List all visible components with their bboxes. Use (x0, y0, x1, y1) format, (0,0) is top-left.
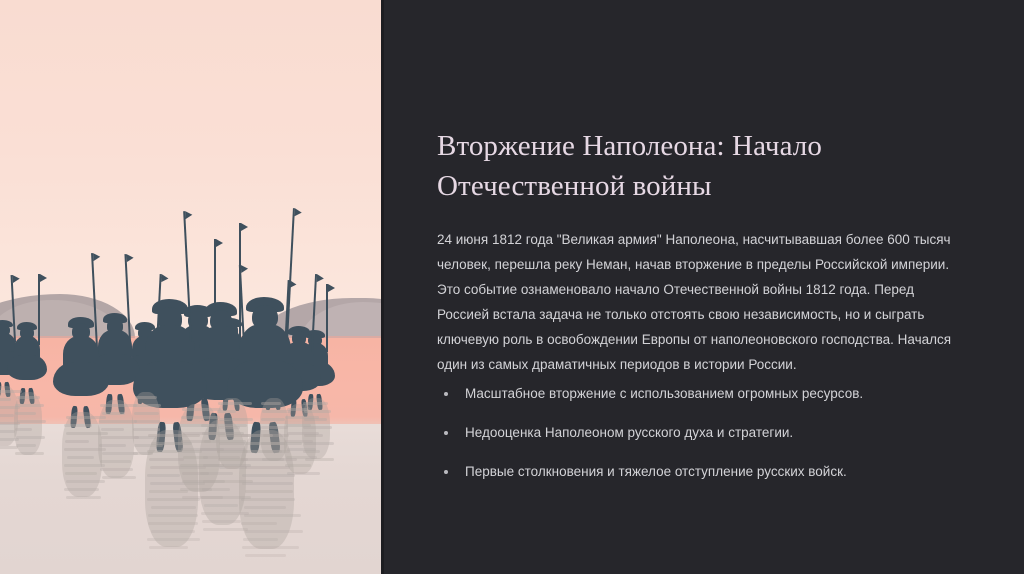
water-ripple (149, 490, 188, 493)
water-ripple (151, 442, 192, 445)
bullet-item: Первые столкновения и тяжелое отступлени… (437, 464, 977, 480)
pennant-flag-icon (241, 223, 248, 231)
water-ripple (287, 408, 308, 411)
water-ripple (261, 402, 281, 405)
water-ripple (102, 452, 138, 455)
water-ripple (245, 530, 303, 533)
bullet-item: Недооценка Наполеоном русского духа и ст… (437, 425, 977, 441)
bullet-text: Первые столкновения и тяжелое отступлени… (465, 464, 847, 479)
water-ripple (245, 466, 290, 469)
water-ripple (242, 546, 299, 549)
water-ripple (66, 496, 101, 499)
water-ripple (286, 424, 311, 427)
water-ripple (287, 432, 319, 435)
water-ripple (16, 436, 46, 439)
bullet-dot-icon (444, 431, 448, 435)
bullet-text: Недооценка Наполеоном русского духа и ст… (465, 425, 793, 440)
water-ripple (15, 404, 44, 407)
water-ripple (241, 522, 277, 525)
water-ripple (218, 402, 252, 405)
water-ripple (151, 506, 196, 509)
water-ripple (66, 432, 108, 435)
water-ripple (147, 450, 202, 453)
illustration-panel (0, 0, 383, 574)
water-ripple (15, 412, 36, 415)
water-ripple (67, 456, 94, 459)
water-ripple (134, 420, 160, 423)
water-ripple (241, 458, 297, 461)
soldier-coat (7, 355, 47, 380)
slide: Вторжение Наполеона: Начало Отечественно… (0, 0, 1024, 574)
water-ripple (134, 412, 159, 415)
pennant-flag-icon (93, 253, 100, 261)
water-ripple (287, 448, 316, 451)
soldier-coat (53, 362, 108, 396)
rifle-icon (38, 274, 40, 344)
water-ripple (203, 456, 241, 459)
water-ripple (245, 490, 293, 493)
water-ripple (147, 498, 200, 501)
water-ripple (64, 488, 100, 491)
pennant-flag-icon (317, 274, 324, 282)
water-ripple (100, 468, 133, 471)
water-ripple (65, 472, 97, 475)
water-ripple (149, 458, 184, 461)
water-ripple (245, 554, 286, 557)
pennant-flag-icon (216, 239, 223, 247)
water-ripple (243, 538, 278, 541)
water-ripple (147, 538, 200, 541)
water-ripple (241, 498, 295, 501)
water-ripple (64, 464, 105, 467)
body-paragraph: 24 июня 1812 года "Великая армия" Наполе… (437, 227, 965, 377)
water-ripple (15, 452, 44, 455)
water-ripple (148, 514, 198, 517)
pennant-flag-icon (241, 264, 248, 272)
water-ripple (102, 476, 136, 479)
water-ripple (149, 546, 188, 549)
water-ripple (244, 514, 301, 517)
water-ripple (64, 424, 93, 427)
water-ripple (147, 474, 180, 477)
water-ripple (242, 474, 295, 477)
water-ripple (181, 416, 220, 419)
rifle-icon (326, 284, 328, 352)
water-ripple (133, 428, 160, 431)
water-ripple (148, 434, 200, 437)
bullet-dot-icon (444, 470, 448, 474)
water-ripple (261, 418, 285, 421)
bullet-dot-icon (444, 392, 448, 396)
water-ripple (201, 424, 247, 427)
water-ripple (151, 530, 196, 533)
water-ripple (66, 416, 106, 419)
water-ripple (202, 488, 230, 491)
pennant-flag-icon (294, 208, 301, 216)
water-ripple (99, 444, 126, 447)
water-ripple (99, 420, 137, 423)
water-ripple (150, 466, 206, 469)
water-ripple (150, 482, 205, 485)
water-ripple (243, 450, 282, 453)
water-ripple (200, 448, 246, 451)
water-ripple (15, 428, 32, 431)
water-ripple (204, 440, 247, 443)
water-ripple (102, 412, 126, 415)
water-ripple (0, 390, 22, 393)
water-ripple (202, 520, 241, 523)
text-panel: Вторжение Наполеона: Начало Отечественно… (383, 0, 1024, 574)
sky-layer (0, 0, 383, 330)
water-ripple (64, 448, 106, 451)
bullet-text: Масштабное вторжение с использованием ог… (465, 386, 863, 401)
water-ripple (244, 442, 302, 445)
water-ripple (66, 480, 105, 483)
water-ripple (100, 404, 137, 407)
water-ripple (203, 528, 248, 531)
water-ripple (17, 420, 47, 423)
pennant-flag-icon (161, 275, 168, 283)
water-ripple (242, 482, 292, 485)
page-title: Вторжение Наполеона: Начало Отечественно… (437, 127, 977, 206)
water-ripple (241, 434, 273, 437)
water-ripple (204, 504, 238, 507)
pennant-flag-icon (126, 254, 133, 262)
water-ripple (65, 440, 89, 443)
water-ripple (101, 436, 139, 439)
bullet-item: Масштабное вторжение с использованием ог… (437, 386, 977, 402)
water-ripple (0, 414, 14, 417)
water-ripple (182, 408, 221, 411)
water-ripple (202, 432, 244, 435)
bullet-list: Масштабное вторжение с использованием ог… (437, 386, 977, 503)
pennant-flag-icon (40, 274, 47, 282)
water-ripple (16, 396, 40, 399)
pennant-flag-icon (328, 284, 335, 292)
water-ripple (101, 428, 124, 431)
water-ripple (285, 416, 318, 419)
pennant-flag-icon (185, 210, 192, 218)
water-ripple (16, 444, 35, 447)
water-ripple (100, 460, 131, 463)
water-ripple (135, 396, 157, 399)
pennant-flag-icon (12, 274, 19, 282)
water-ripple (200, 472, 232, 475)
water-ripple (0, 398, 11, 401)
soldier-silhouette (12, 318, 42, 392)
soldier-silhouette (60, 312, 102, 412)
water-ripple (244, 506, 286, 509)
water-ripple (148, 522, 198, 525)
